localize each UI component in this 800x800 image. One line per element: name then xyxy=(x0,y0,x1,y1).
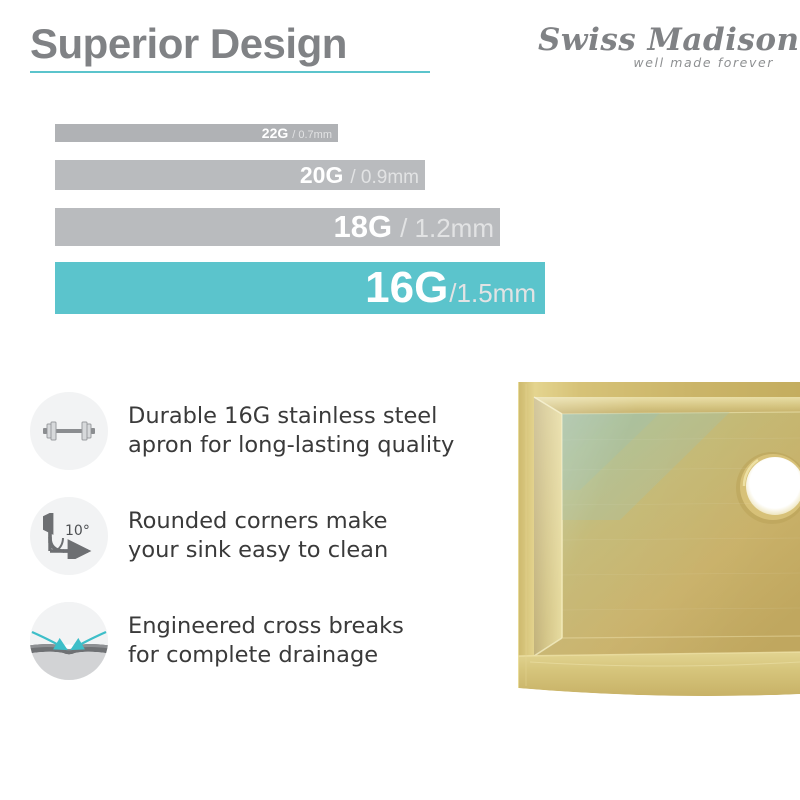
gauge-bar-label: 18G / 1.2mm xyxy=(333,209,500,245)
feature-line-1: Durable 16G stainless steel xyxy=(128,402,454,431)
gold-farmhouse-apron-sink-image xyxy=(500,370,800,710)
feature-list: Durable 16G stainless steel apron for lo… xyxy=(30,378,500,693)
feature-line-2: for complete drainage xyxy=(128,641,404,670)
cross-break-drainage-icon xyxy=(30,602,108,680)
corner-angle-label: 10° xyxy=(65,523,90,539)
feature-item-durability: Durable 16G stainless steel apron for lo… xyxy=(30,378,500,483)
gauge-thickness-text: / 0.9mm xyxy=(350,167,419,189)
title-underline-accent xyxy=(30,71,430,73)
gauge-value-text: 16G xyxy=(365,263,448,313)
gauge-thickness-text: / 1.2mm xyxy=(400,213,494,244)
gauge-value-text: 20G xyxy=(300,162,343,189)
feature-line-2: apron for long-lasting quality xyxy=(128,431,454,460)
gauge-bar-label: 16G /1.5mm xyxy=(365,263,545,313)
feature-item-cross-breaks: Engineered cross breaks for complete dra… xyxy=(30,588,500,693)
dumbbell-icon xyxy=(30,392,108,470)
gauge-value-text: 22G xyxy=(262,125,288,141)
page-header: Superior Design Swiss Madison® well made… xyxy=(0,0,800,100)
feature-line-1: Rounded corners make xyxy=(128,507,388,536)
brand-name-text: Swiss Madison xyxy=(538,22,800,58)
gauge-value-text: 18G xyxy=(333,209,392,245)
feature-item-rounded-corners: 10° Rounded corners make your sink easy … xyxy=(30,483,500,588)
gauge-bar-20g: 20G / 0.9mm xyxy=(55,160,425,190)
feature-text-rounded-corners: Rounded corners make your sink easy to c… xyxy=(128,507,388,564)
page-title: Superior Design xyxy=(30,20,347,68)
gauge-bar-16g-highlighted: 16G /1.5mm xyxy=(55,262,545,314)
gauge-bar-label: 22G / 0.7mm xyxy=(262,125,338,141)
gauge-bar-22g: 22G / 0.7mm xyxy=(55,124,338,142)
gauge-bar-18g: 18G / 1.2mm xyxy=(55,208,500,246)
feature-line-1: Engineered cross breaks xyxy=(128,612,404,641)
feature-text-cross-breaks: Engineered cross breaks for complete dra… xyxy=(128,612,404,669)
brand-logo: Swiss Madison® well made forever xyxy=(538,24,778,80)
brand-wordmark: Swiss Madison® xyxy=(538,24,778,57)
gauge-thickness-text: / 0.7mm xyxy=(292,129,332,141)
gauge-thickness-text: /1.5mm xyxy=(449,278,536,309)
feature-text-durability: Durable 16G stainless steel apron for lo… xyxy=(128,402,454,459)
gauge-comparison-chart: 22G / 0.7mm 20G / 0.9mm 18G / 1.2mm 16G … xyxy=(0,110,600,325)
gauge-bar-label: 20G / 0.9mm xyxy=(300,162,425,189)
feature-line-2: your sink easy to clean xyxy=(128,536,388,565)
corner-angle-icon: 10° xyxy=(30,497,108,575)
